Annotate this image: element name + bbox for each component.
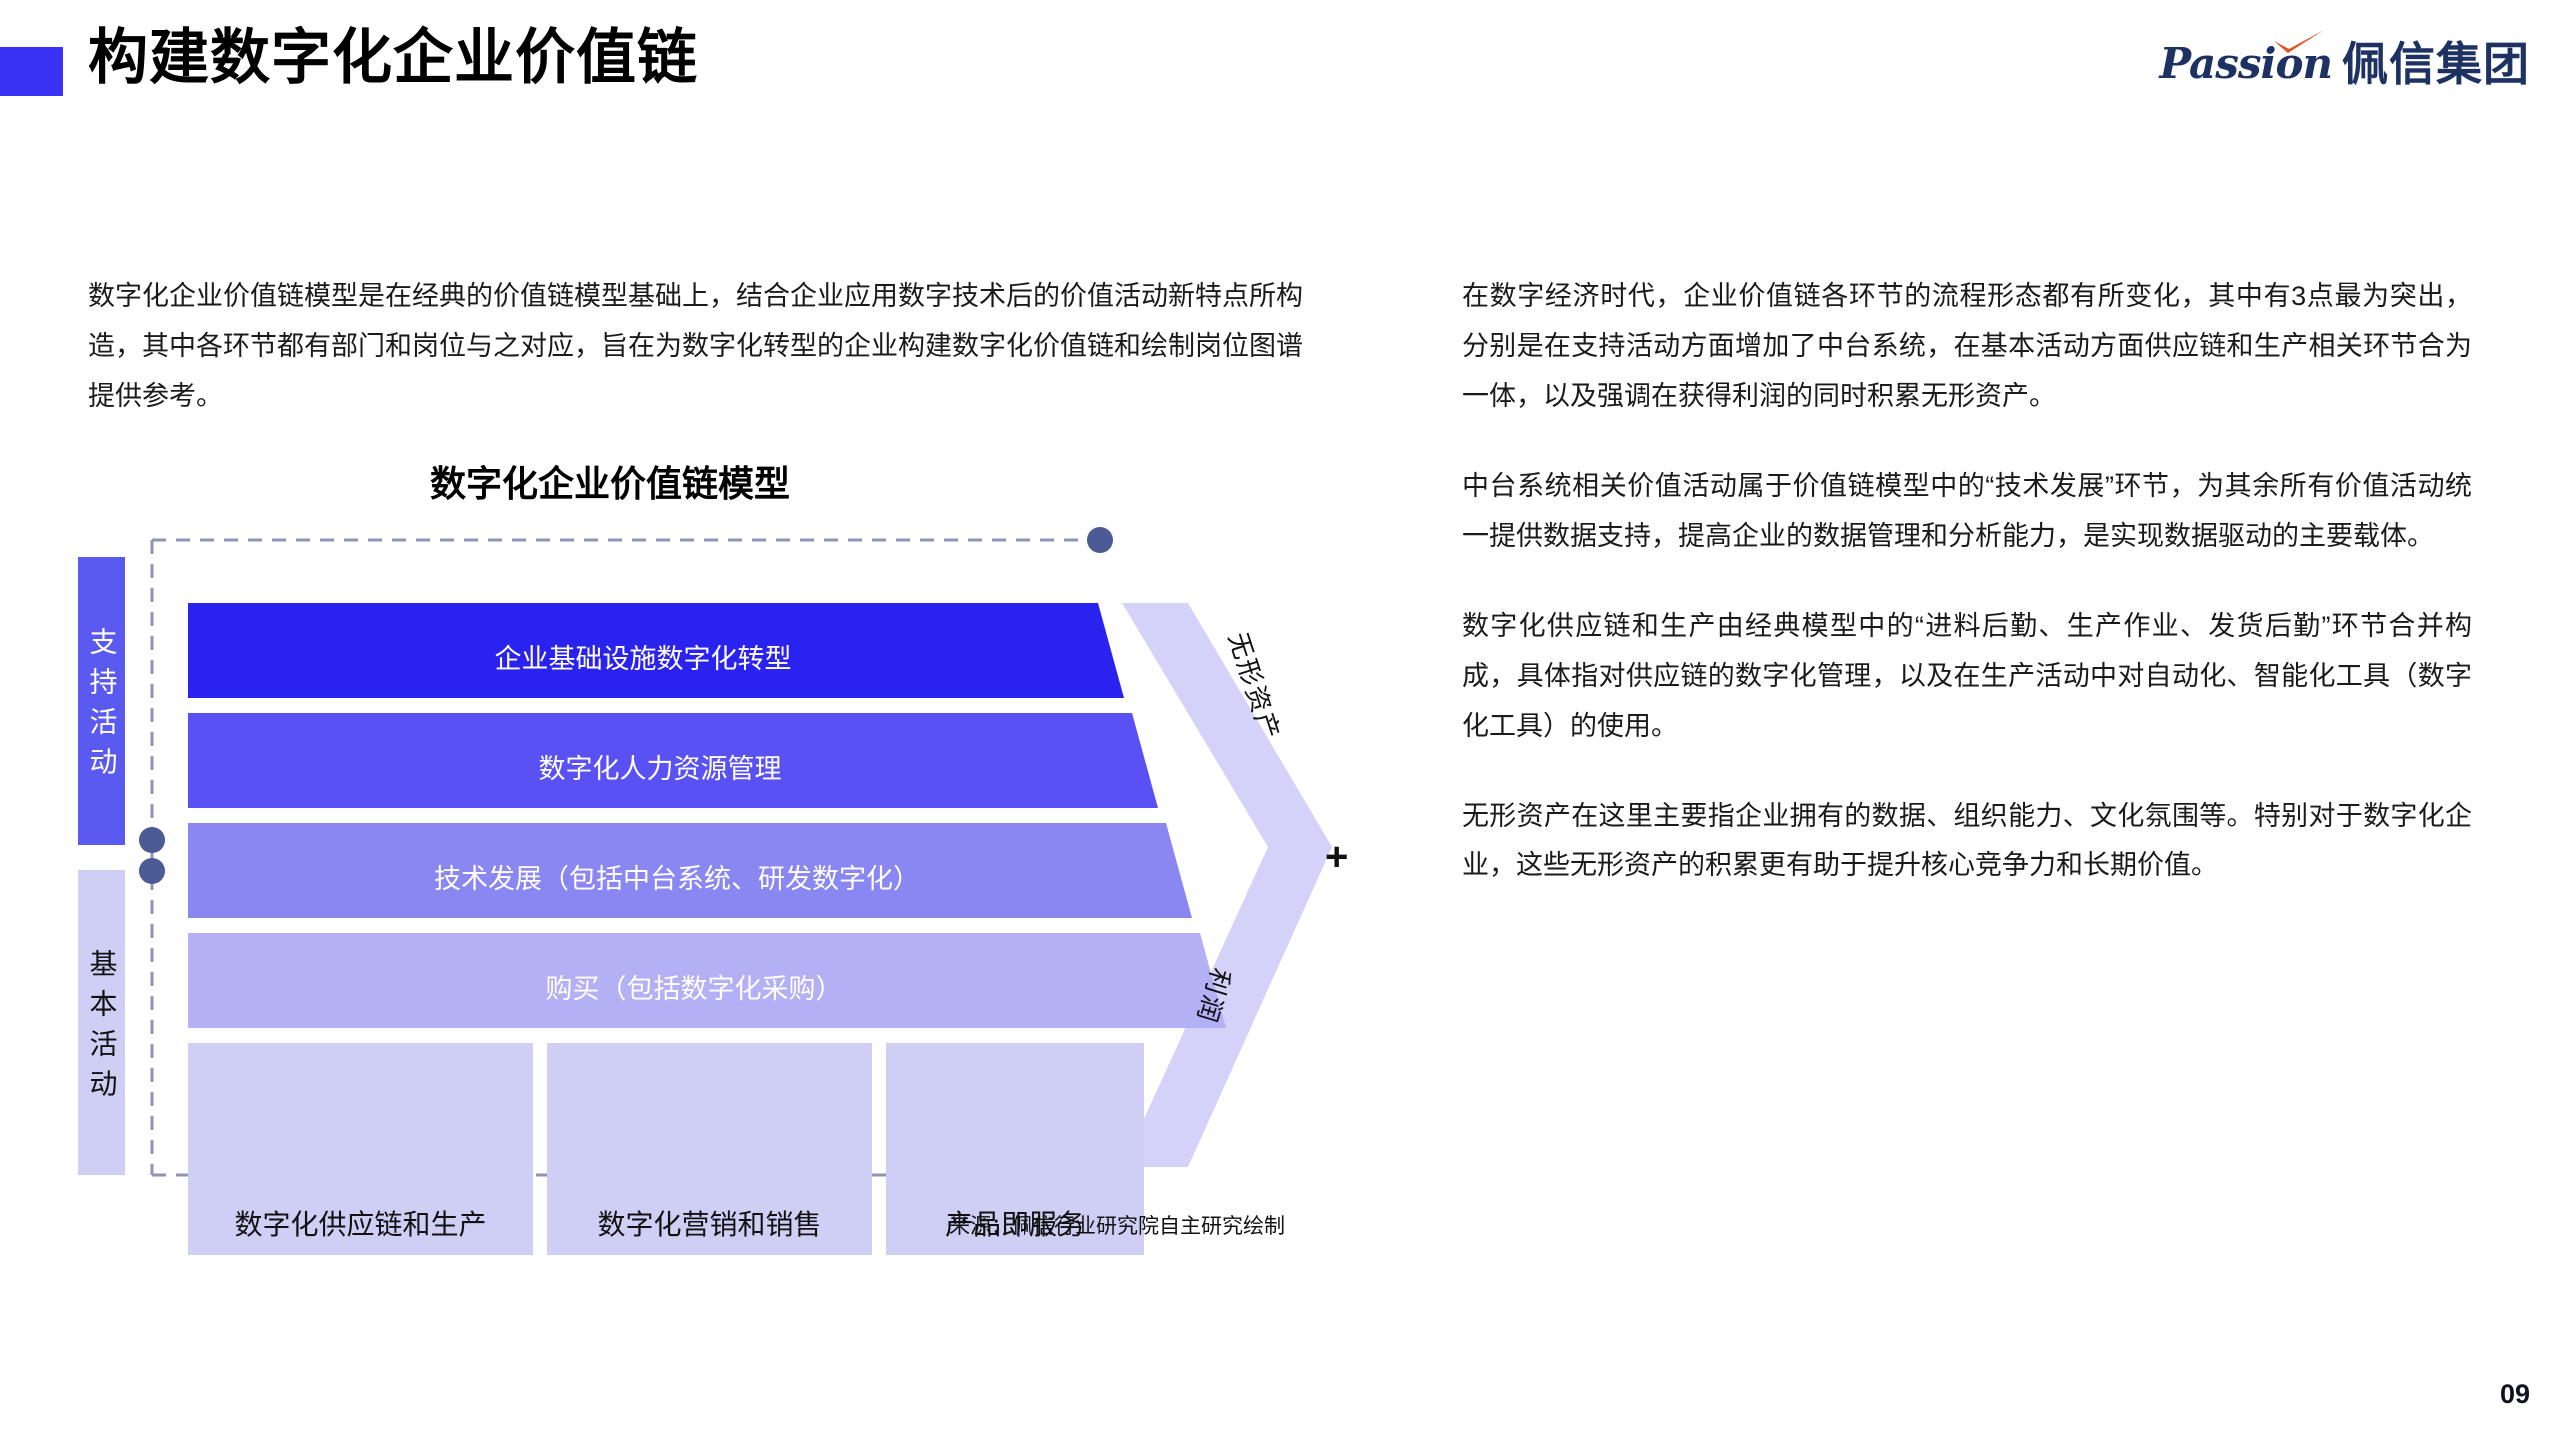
brand-logo-chinese-label: 佩信集团 bbox=[2342, 41, 2530, 87]
support-bar-label-4: 购买（包括数字化采购） bbox=[188, 967, 1200, 1006]
value-chain-diagram: 数字化企业价值链模型 支持活动 bbox=[60, 455, 1380, 1255]
right-text-column: 在数字经济时代，企业价值链各环节的流程形态都有所变化，其中有3点最为突出，分别是… bbox=[1462, 245, 2472, 931]
page-title: 构建数字化企业价值链 bbox=[88, 25, 698, 91]
side-label-primary-activities: 基本活动 bbox=[78, 870, 125, 1175]
side-label-support-activities: 支持活动 bbox=[78, 557, 125, 845]
support-bar-label-1: 企业基础设施数字化转型 bbox=[188, 637, 1098, 676]
intro-paragraph: 数字化企业价值链模型是在经典的价值链模型基础上，结合企业应用数字技术后的价值活动… bbox=[88, 272, 1303, 422]
right-paragraph-4: 无形资产在这里主要指企业拥有的数据、组织能力、文化氛围等。特别对于数字化企业，这… bbox=[1462, 792, 2472, 892]
page-number: 09 bbox=[2500, 1379, 2530, 1410]
support-bar-label-3: 技术发展（包括中台系统、研发数字化） bbox=[188, 857, 1166, 896]
diagram-graphics bbox=[60, 455, 1380, 1255]
arrow-plus-symbol: + bbox=[1325, 837, 1348, 877]
diagram-source-caption: 来源：佩信行业研究院自主研究绘制 bbox=[60, 1210, 1285, 1240]
brand-logo: Passion 佩信集团 bbox=[2160, 36, 2530, 92]
brand-logo-latin-text: Passion bbox=[2160, 43, 2332, 85]
checkmark-icon bbox=[2272, 29, 2326, 55]
right-paragraph-1: 在数字经济时代，企业价值链各环节的流程形态都有所变化，其中有3点最为突出，分别是… bbox=[1462, 272, 2472, 422]
header-accent-square bbox=[0, 47, 63, 96]
right-paragraph-3: 数字化供应链和生产由经典模型中的“进料后勤、生产作业、发货后勤”环节合并构成，具… bbox=[1462, 602, 2472, 752]
right-paragraph-2: 中台系统相关价值活动属于价值链模型中的“技术发展”环节，为其余所有价值活动统一提… bbox=[1462, 462, 2472, 562]
support-bar-label-2: 数字化人力资源管理 bbox=[188, 747, 1132, 786]
left-text-column: 数字化企业价值链模型是在经典的价值链模型基础上，结合企业应用数字技术后的价值活动… bbox=[88, 245, 1303, 449]
